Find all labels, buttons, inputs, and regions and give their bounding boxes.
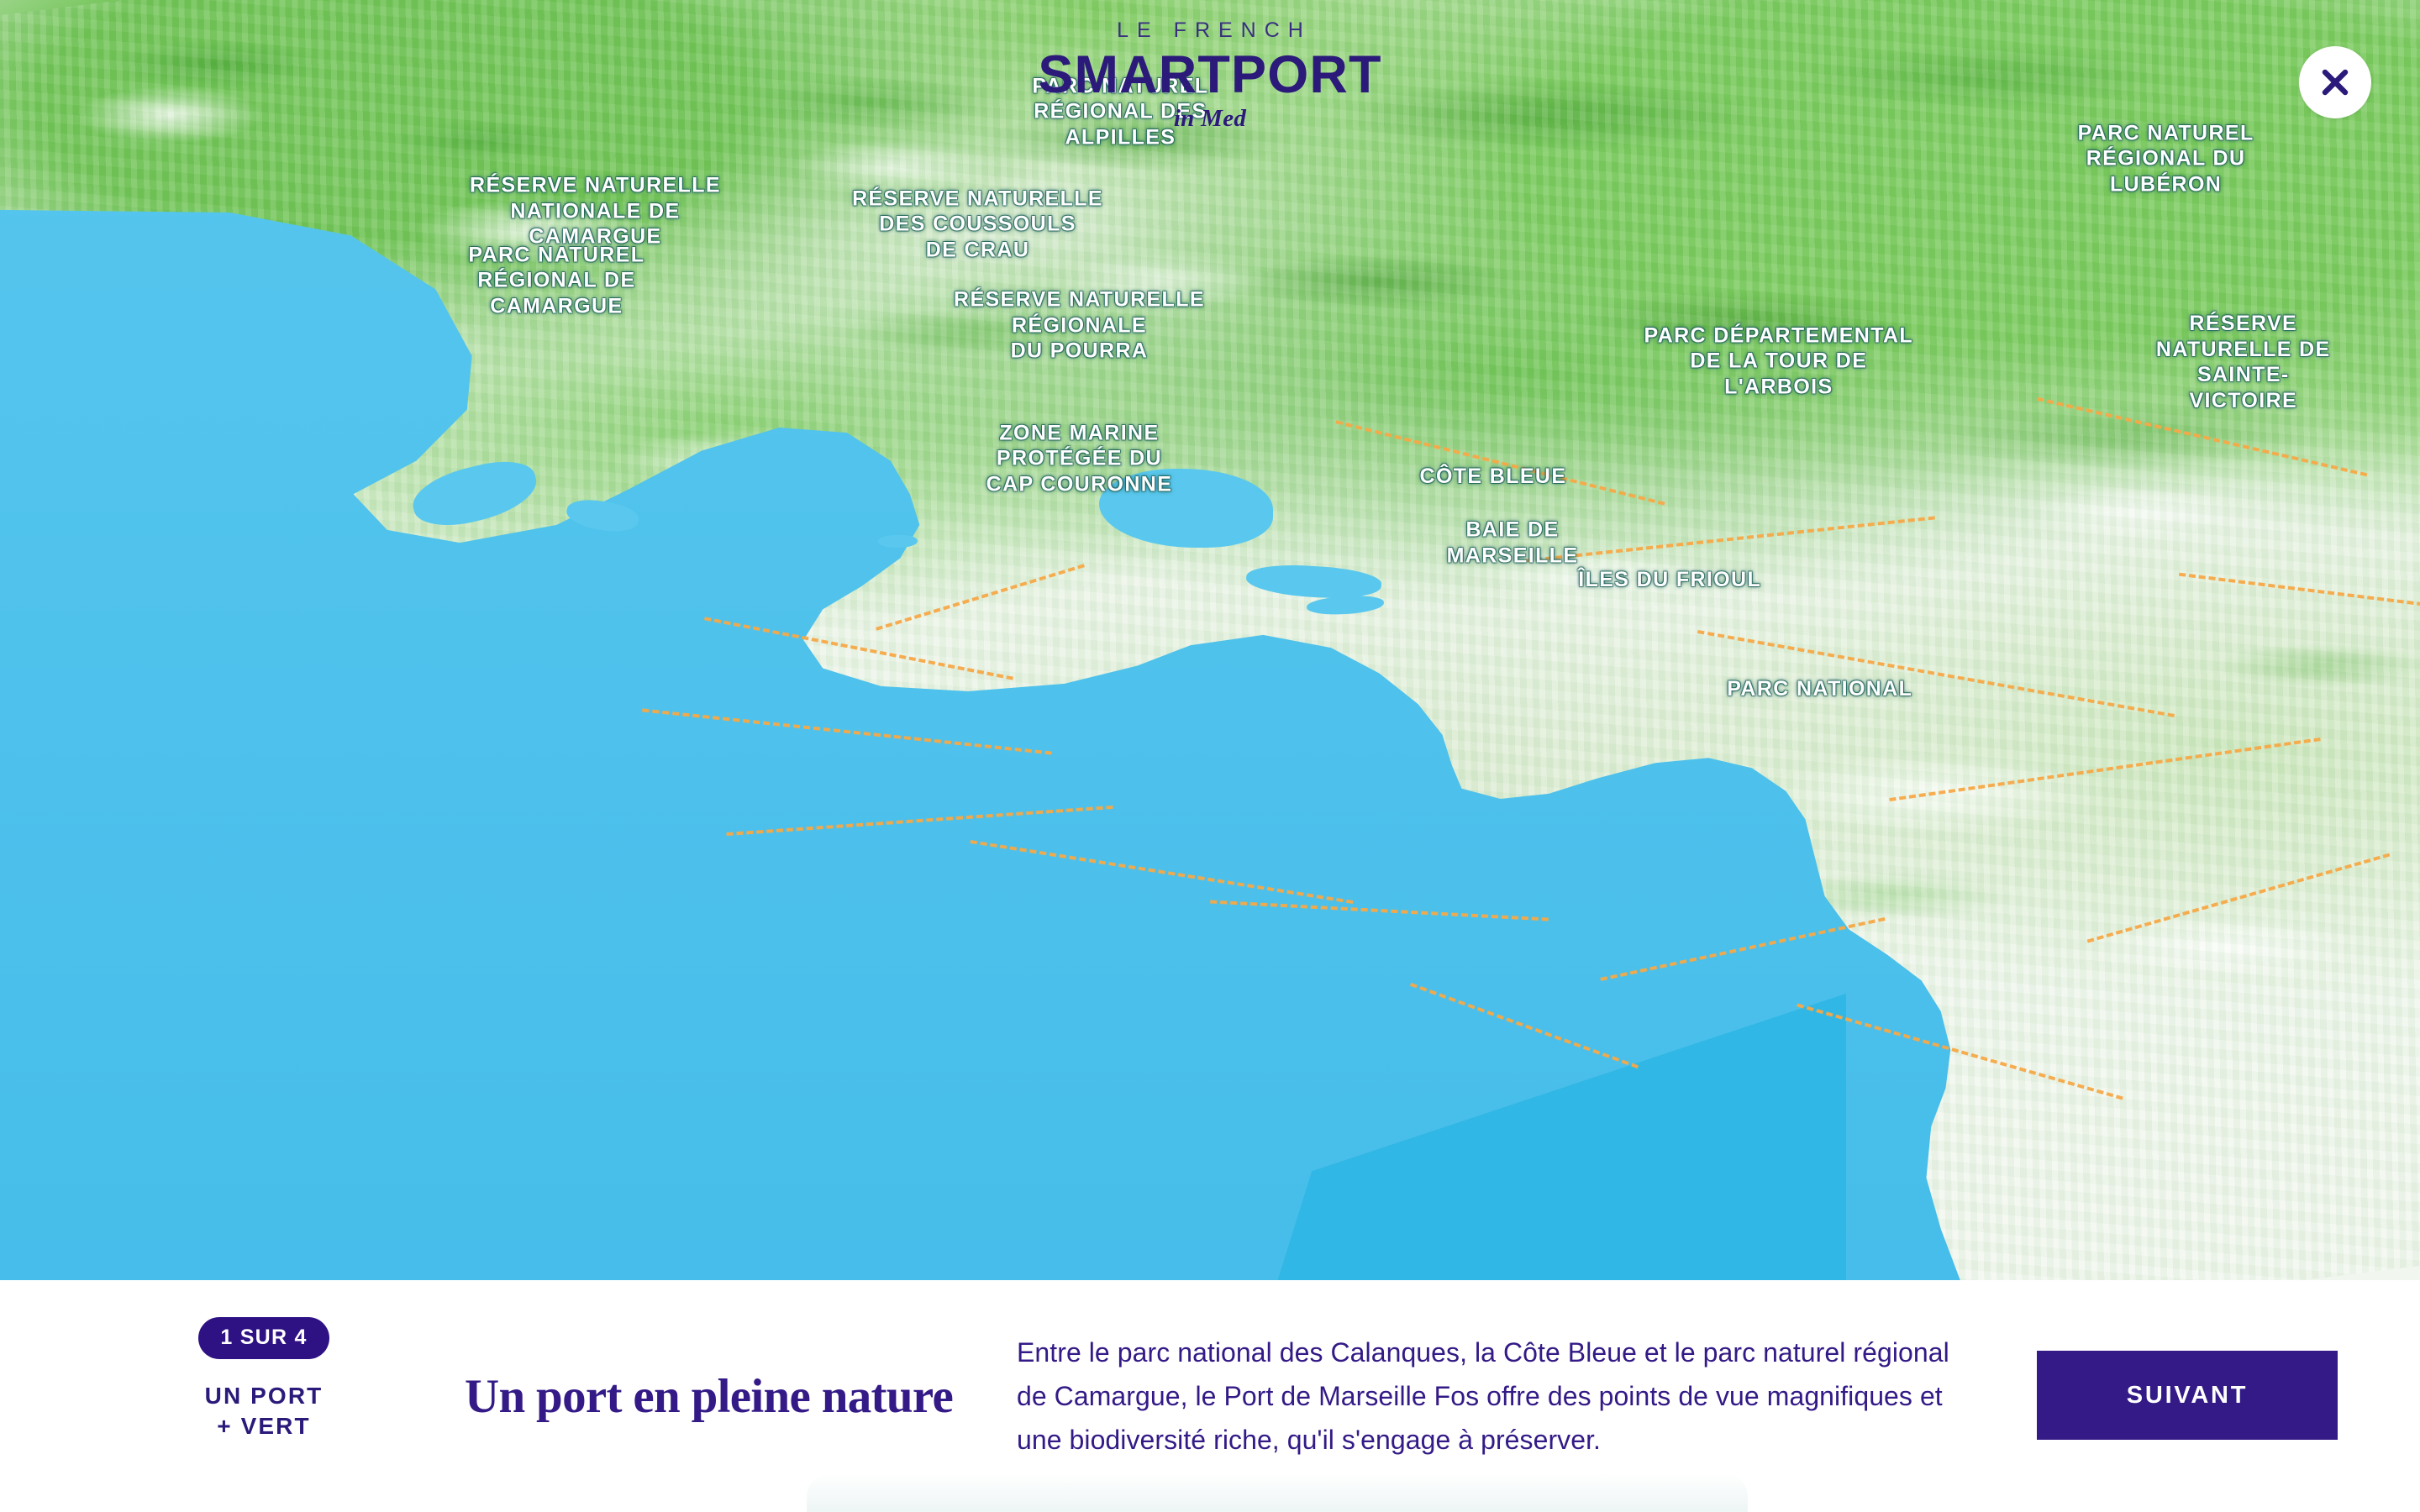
step-badge: 1 SUR 4 [198,1317,329,1359]
close-icon [2317,64,2354,101]
slide-title: Un port en pleine nature [465,1281,969,1512]
close-button[interactable] [2299,46,2371,118]
slide-root: PARC NATUREL RÉGIONAL DES ALPILLESPARC N… [0,0,2420,1512]
slide-description: Entre le parc national des Calanques, la… [1017,1280,1983,1512]
chapter-theme-label: UN PORT + VERT [205,1381,324,1442]
map-lagoon [878,535,917,548]
map-canvas[interactable]: PARC NATUREL RÉGIONAL DES ALPILLESPARC N… [0,0,2420,1280]
next-button[interactable]: SUIVANT [2037,1351,2338,1440]
step-indicator: 1 SUR 4 UN PORT + VERT [181,1317,346,1442]
